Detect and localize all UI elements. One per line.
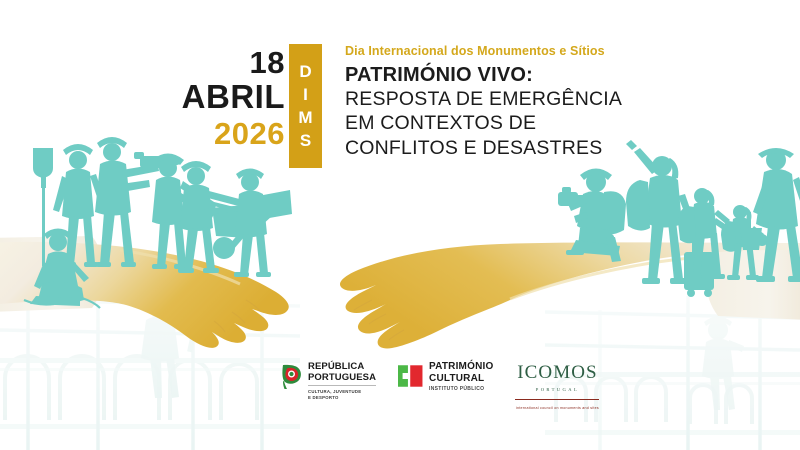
photographer-kneeling (558, 169, 626, 263)
poster-header: 18 ABRIL 2026 D I M S Dia Internacional … (0, 0, 800, 175)
event-title-line-1: PATRIMÓNIO VIVO: (345, 63, 775, 87)
logo-icomos-divider (515, 399, 599, 400)
dims-letter-s: S (300, 132, 311, 149)
logo-pc-line2: CULTURAL (429, 374, 493, 384)
logo-icomos-country: PORTUGAL (536, 388, 579, 393)
logo-republica-text: REPÚBLICA PORTUGUESA CULTURA, JUVENTUDE … (308, 362, 376, 401)
logo-rp-line2: PORTUGUESA (308, 373, 376, 383)
event-date-month: ABRIL (120, 79, 285, 115)
event-eyebrow: Dia Internacional dos Monumentos e Sítio… (345, 44, 775, 60)
logo-icomos-name: ICOMOS (517, 363, 598, 382)
logo-pc-sub1: INSTITUTO PÚBLICO (429, 387, 493, 392)
dims-letter-i: I (303, 86, 308, 103)
logo-rp-divider (308, 385, 376, 386)
dims-letter-d: D (299, 63, 311, 80)
logo-pc-line1: PATRIMÓNIO (429, 362, 493, 372)
event-title-block: Dia Internacional dos Monumentos e Sítio… (345, 44, 775, 160)
child-with-backpack (678, 188, 730, 279)
portuguese-shield-icon (281, 363, 303, 389)
patrimonio-cultural-icon (398, 363, 424, 389)
logo-rp-line1: REPÚBLICA (308, 362, 376, 372)
dims-letter-m: M (298, 109, 312, 126)
open-hand-left (0, 236, 289, 348)
logo-republica-portuguesa: REPÚBLICA PORTUGUESA CULTURA, JUVENTUDE … (281, 362, 376, 401)
event-date-year: 2026 (120, 117, 285, 151)
partner-logos: REPÚBLICA PORTUGUESA CULTURA, JUVENTUDE … (281, 362, 599, 410)
logo-rp-sub2: E DESPORTO (308, 395, 376, 401)
logo-patrimonio-text: PATRIMÓNIO CULTURAL INSTITUTO PÚBLICO (429, 362, 493, 392)
event-date-day: 18 (120, 48, 285, 78)
event-title-line-4: CONFLITOS E DESASTRES (345, 136, 775, 160)
worker-holding-map (234, 169, 292, 278)
event-date: 18 ABRIL 2026 (120, 48, 285, 151)
dims-acronym-badge: D I M S (289, 44, 322, 168)
event-title-line-3: EM CONTEXTOS DE (345, 111, 775, 135)
small-child-with-toy (713, 205, 768, 280)
logo-icomos-sub: international council on monuments and s… (516, 406, 599, 411)
worker-kneeling-excavating (24, 229, 100, 309)
poster-canvas: 18 ABRIL 2026 D I M S Dia Internacional … (0, 0, 800, 450)
worker-carrying-plank (178, 161, 262, 273)
logo-patrimonio-cultural: PATRIMÓNIO CULTURAL INSTITUTO PÚBLICO (398, 362, 493, 392)
open-hand-right (340, 242, 800, 348)
logo-icomos-portugal: ICOMOS PORTUGAL international council on… (515, 363, 599, 411)
event-title-line-2: RESPOSTA DE EMERGÊNCIA (345, 87, 775, 111)
